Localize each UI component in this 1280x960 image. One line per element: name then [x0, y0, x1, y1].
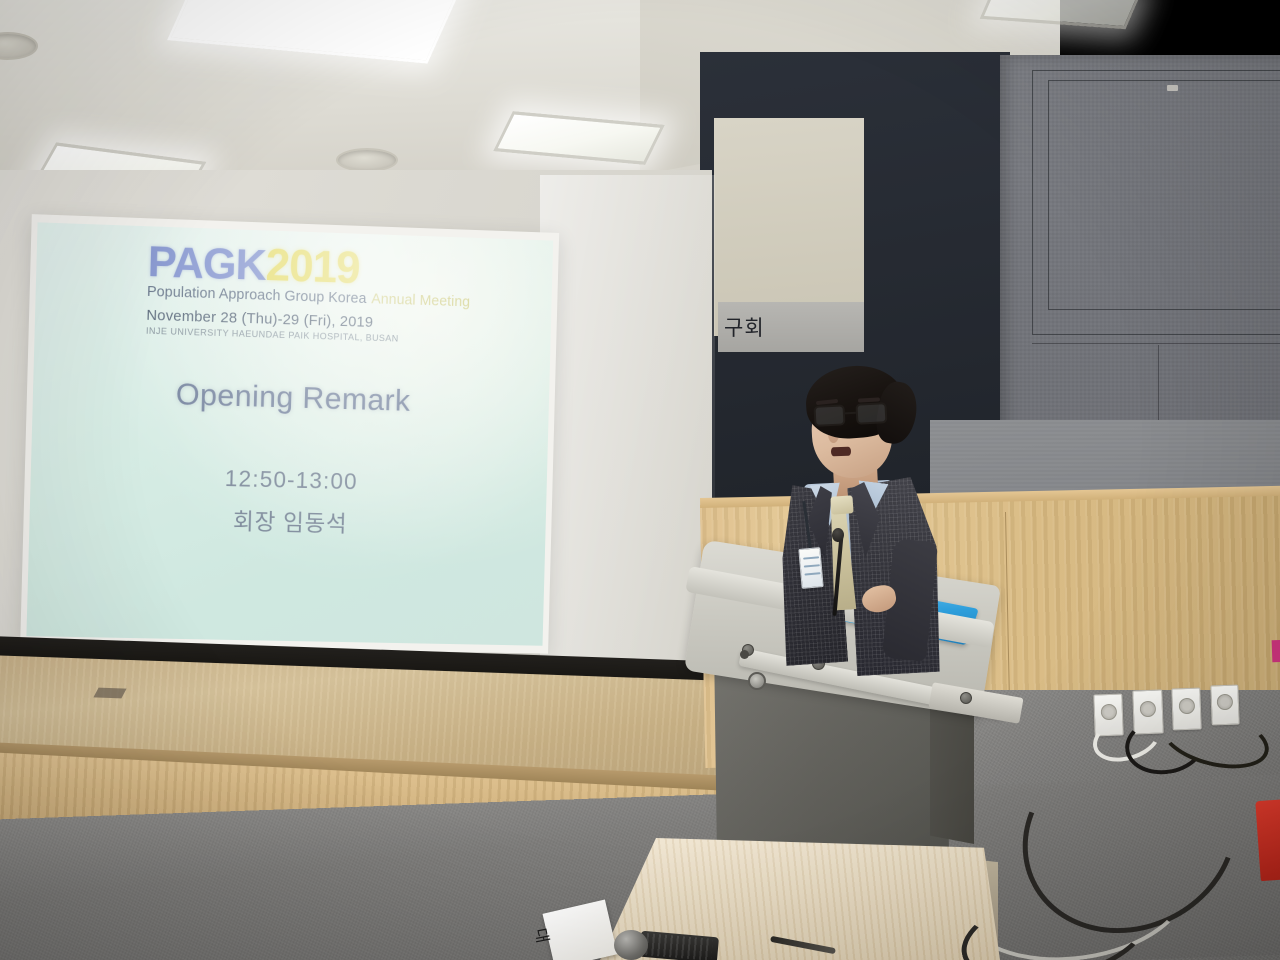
wall-panel-clip	[1167, 85, 1178, 91]
conference-room-photo: 구회 PAGK 2019 Population Approach Group K…	[0, 0, 1280, 960]
door-sign-label: 구회	[724, 312, 765, 342]
wall-pink-marker	[1272, 640, 1280, 663]
wall-light-sheen	[540, 175, 715, 680]
logo-brand-text: PAGK	[147, 241, 266, 286]
logo-subtitle-accent: Annual Meeting	[371, 291, 470, 310]
eyeglass-lens	[813, 404, 845, 427]
logo-year-text: 2019	[265, 244, 360, 289]
badge-text-line	[804, 564, 820, 567]
podium-lock-latch[interactable]	[748, 672, 766, 690]
presentation-slide: PAGK 2019 Population Approach Group Kore…	[26, 222, 553, 645]
data-port-icon	[1217, 694, 1234, 711]
slide-time: 12:50-13:00	[30, 460, 547, 500]
speaker-mouth	[831, 447, 851, 457]
projection-screen: PAGK 2019 Population Approach Group Kore…	[20, 214, 559, 654]
slide-title: Opening Remark	[33, 372, 550, 422]
badge-text-line	[804, 572, 820, 575]
door-sign: 구회	[718, 302, 864, 352]
podium-screw	[740, 650, 749, 659]
name-badge	[798, 547, 823, 589]
handheld-microphone-head	[614, 930, 648, 960]
eyeglasses-icon	[811, 402, 890, 428]
wall-panel-divider	[1032, 343, 1280, 344]
stage-floor-vent	[93, 688, 126, 699]
ceiling-round-vent	[336, 148, 398, 172]
name-card-text: 대	[530, 926, 557, 946]
eyeglass-bridge	[845, 412, 856, 415]
outlet-socket-icon	[1100, 704, 1117, 721]
speaker-tie-knot	[830, 495, 853, 514]
badge-text-line	[803, 556, 819, 559]
podium-knob[interactable]	[960, 692, 972, 704]
wall-panel-outline	[1048, 80, 1280, 310]
slide-presenter: 회장 임동석	[29, 497, 546, 543]
eyeglass-lens	[855, 402, 887, 425]
pagk-logo: PAGK 2019 Population Approach Group Kore…	[146, 240, 472, 345]
